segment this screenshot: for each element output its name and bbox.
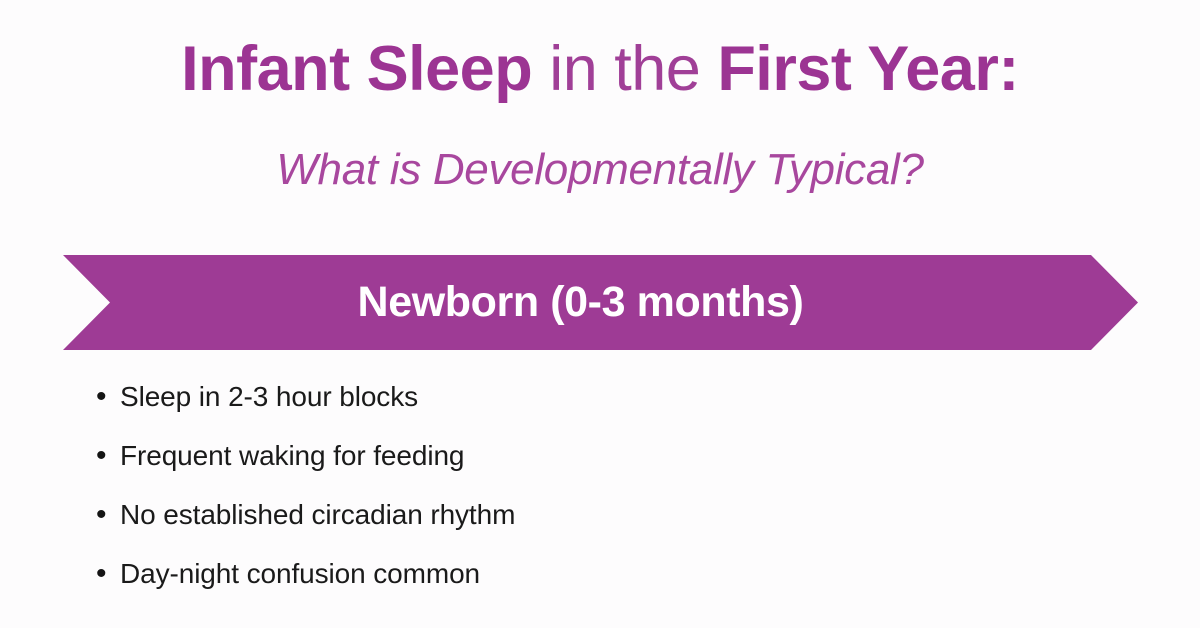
list-item: • No established circadian rhythm: [96, 497, 1096, 556]
title-segment-bold-secondary: First Year:: [717, 34, 1019, 104]
infographic-slide: Infant Sleep in the First Year: What is …: [0, 0, 1200, 628]
stage-banner-label: Newborn (0-3 months): [358, 278, 804, 327]
list-item: • Frequent waking for feeding: [96, 438, 1096, 497]
title-segment-bold-primary: Infant Sleep: [181, 34, 532, 104]
list-item: • Sleep in 2-3 hour blocks: [96, 379, 1096, 438]
bullet-point-icon: •: [96, 497, 120, 533]
list-item-label: Frequent waking for feeding: [120, 438, 464, 474]
title-segment-light: in the: [532, 34, 717, 104]
bullet-point-icon: •: [96, 379, 120, 415]
bullet-point-icon: •: [96, 556, 120, 592]
subtitle-text: What is Developmentally Typical?: [276, 145, 923, 194]
list-item-label: Sleep in 2-3 hour blocks: [120, 379, 418, 415]
list-item-label: Day-night confusion common: [120, 556, 480, 592]
list-item-label: No established circadian rhythm: [120, 497, 515, 533]
bullet-point-icon: •: [96, 438, 120, 474]
page-subtitle: What is Developmentally Typical?: [0, 148, 1200, 192]
title-line: Infant Sleep in the First Year:: [0, 38, 1200, 101]
page-title: Infant Sleep in the First Year:: [0, 38, 1200, 101]
stage-banner: Newborn (0-3 months): [63, 255, 1138, 350]
list-item: • Day-night confusion common: [96, 556, 1096, 615]
sleep-characteristics-list: • Sleep in 2-3 hour blocks • Frequent wa…: [96, 379, 1096, 615]
